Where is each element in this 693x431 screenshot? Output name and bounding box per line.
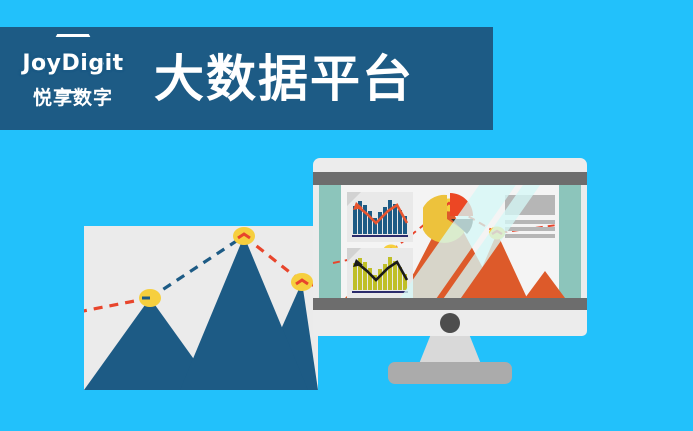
header-banner: JoyDigit 悦享数字 大数据平台 <box>0 27 493 130</box>
monitor-bottom-bezel <box>313 298 587 310</box>
blue-bar-chart-card <box>347 192 413 242</box>
data-marker-2 <box>233 227 255 245</box>
monitor-screen <box>319 185 581 298</box>
data-marker-3 <box>291 273 313 291</box>
monitor-top-bezel <box>313 172 587 185</box>
document-text-line <box>505 227 555 231</box>
olive-bar-chart-card <box>347 248 413 298</box>
logo-subtitle: 悦享数字 <box>33 83 113 110</box>
document-text-line <box>505 234 555 238</box>
logo-wordmark: JoyDigit <box>22 51 123 76</box>
monitor-stand-neck <box>419 336 481 364</box>
camera-dot-icon <box>440 313 460 333</box>
brand-logo: JoyDigit 悦享数字 <box>14 29 132 129</box>
monitor-stand-base <box>388 362 512 384</box>
olive-bar-chart-svg <box>347 248 413 298</box>
mountain-chart-svg <box>84 226 318 390</box>
desktop-monitor <box>313 158 587 336</box>
page-title: 大数据平台 <box>154 54 414 104</box>
blue-bar-chart-svg <box>347 192 413 242</box>
mountain-area-chart-panel <box>84 226 318 390</box>
illustration-canvas: JoyDigit 悦享数字 大数据平台 <box>0 0 693 431</box>
